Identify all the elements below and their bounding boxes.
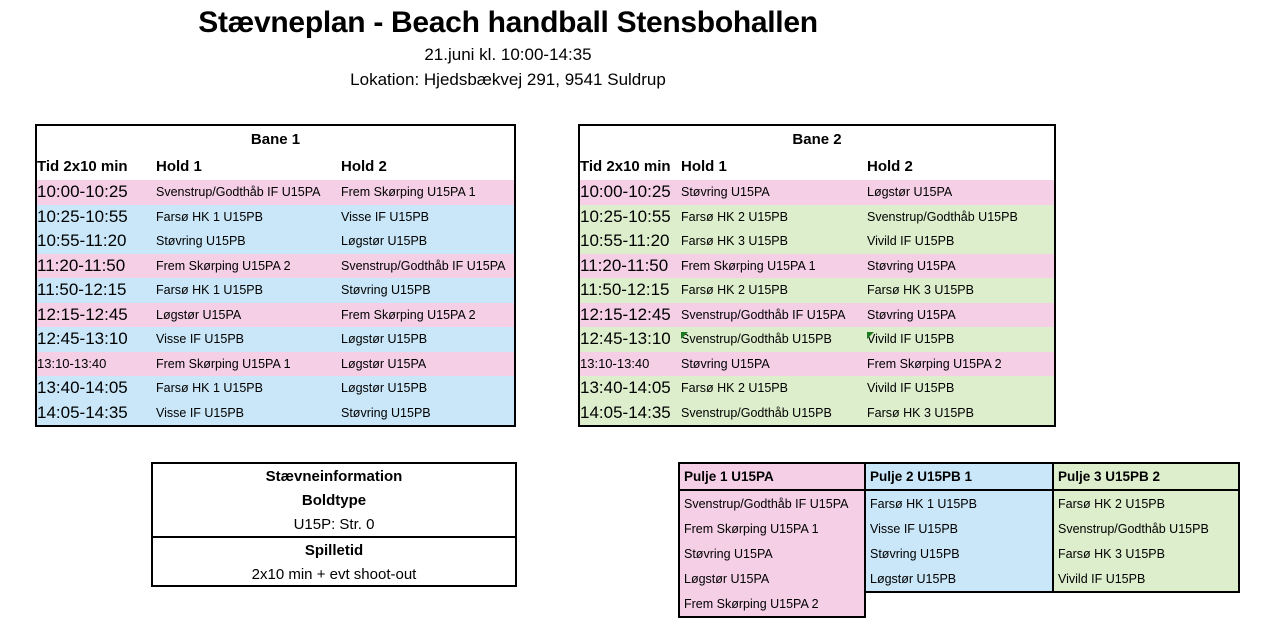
pool-team-label: Frem Skørping U15PA 2 (680, 591, 864, 616)
pool-team-label: Løgstør U15PA (680, 566, 864, 591)
table-row: 10:00-10:25Støvring U15PALøgstør U15PA (580, 180, 1054, 205)
pool-header-row: Pulje 1 U15PA (680, 464, 864, 490)
table-row: 11:20-11:50Frem Skørping U15PA 2Svenstru… (37, 254, 514, 279)
match-home-team: Farsø HK 2 U15PB (681, 205, 867, 230)
match-home-team-label: Farsø HK 1 U15PB (156, 381, 263, 395)
match-home-team-label: Svenstrup/Godthåb IF U15PA (681, 308, 845, 322)
match-away-team: Frem Skørping U15PA 2 (867, 352, 1054, 377)
schedule-table-bane-1: Bane 1Tid 2x10 minHold 1Hold 210:00-10:2… (35, 124, 516, 427)
pool-team-label: Svenstrup/Godthåb IF U15PA (680, 490, 864, 516)
match-time: 11:50-12:15 (37, 278, 156, 303)
match-home-team: Støvring U15PB (156, 229, 341, 254)
match-away-team: Løgstør U15PB (341, 327, 514, 352)
pool-team-row: Svenstrup/Godthåb U15PB (1054, 516, 1238, 541)
match-time: 13:10-13:40 (580, 352, 681, 377)
pool-header-label: Pulje 3 U15PB 2 (1054, 464, 1238, 490)
pool-team-row: Visse IF U15PB (866, 516, 1052, 541)
pool-team-row: Frem Skørping U15PA 2 (680, 591, 864, 616)
pool-header-row: Pulje 3 U15PB 2 (1054, 464, 1238, 490)
table-row: 12:45-13:10Svenstrup/Godthåb U15PBVivild… (580, 327, 1054, 352)
match-time: 11:20-11:50 (37, 254, 156, 279)
match-time: 11:20-11:50 (580, 254, 681, 279)
match-home-team-label: Farsø HK 2 U15PB (681, 210, 788, 224)
table-row: 13:40-14:05Farsø HK 1 U15PBLøgstør U15PB (37, 376, 514, 401)
match-away-team: Svenstrup/Godthåb IF U15PA (341, 254, 514, 279)
table-row: 14:05-14:35Visse IF U15PBStøvring U15PB (37, 401, 514, 426)
table-row: 11:20-11:50Frem Skørping U15PA 1Støvring… (580, 254, 1054, 279)
table-row: 10:00-10:25Svenstrup/Godthåb IF U15PAFre… (37, 180, 514, 205)
pool-table-pulje-3: Pulje 3 U15PB 2Farsø HK 2 U15PBSvenstrup… (1052, 462, 1240, 593)
bane-title: Bane 2 (580, 126, 1054, 153)
match-home-team: Støvring U15PA (681, 180, 867, 205)
table-header-row: Tid 2x10 minHold 1Hold 2 (37, 153, 514, 180)
table-row: 10:55-11:20Støvring U15PBLøgstør U15PB (37, 229, 514, 254)
table-row: 13:40-14:05Farsø HK 2 U15PBVivild IF U15… (580, 376, 1054, 401)
match-away-team: Vivild IF U15PB (867, 376, 1054, 401)
pool-team-row: Vivild IF U15PB (1054, 566, 1238, 591)
pool-team-label: Farsø HK 2 U15PB (1054, 490, 1238, 516)
match-home-team-label: Svenstrup/Godthåb IF U15PA (156, 185, 320, 199)
match-home-team: Visse IF U15PB (156, 327, 341, 352)
table-row: 10:55-11:20Farsø HK 3 U15PBVivild IF U15… (580, 229, 1054, 254)
table-row: 11:50-12:15Farsø HK 2 U15PBFarsø HK 3 U1… (580, 278, 1054, 303)
pool-team-label: Løgstør U15PB (866, 566, 1052, 591)
match-time: 10:55-11:20 (580, 229, 681, 254)
match-time: 10:00-10:25 (37, 180, 156, 205)
match-away-team-label: Løgstør U15PB (341, 381, 427, 395)
match-away-team: Løgstør U15PB (341, 376, 514, 401)
table-row: 13:10-13:40Støvring U15PAFrem Skørping U… (580, 352, 1054, 377)
match-home-team-label: Farsø HK 2 U15PB (681, 381, 788, 395)
pool-team-label: Støvring U15PB (866, 541, 1052, 566)
match-home-team: Svenstrup/Godthåb IF U15PA (681, 303, 867, 328)
match-home-team-label: Farsø HK 2 U15PB (681, 283, 788, 297)
match-away-team: Løgstør U15PA (867, 180, 1054, 205)
match-away-team-label: Vivild IF U15PB (867, 234, 954, 248)
match-away-team-label: Løgstør U15PB (341, 332, 427, 346)
match-home-team: Farsø HK 3 U15PB (681, 229, 867, 254)
match-away-team: Støvring U15PA (867, 254, 1054, 279)
info-ball-label: Boldtype (153, 488, 515, 512)
pool-team-label: Svenstrup/Godthåb U15PB (1054, 516, 1238, 541)
match-away-team-label: Visse IF U15PB (341, 210, 429, 224)
table-title-row: Bane 2 (580, 126, 1054, 153)
match-away-team-label: Støvring U15PB (341, 283, 431, 297)
match-away-team-label: Støvring U15PB (341, 406, 431, 420)
match-home-team: Farsø HK 2 U15PB (681, 278, 867, 303)
match-home-team: Frem Skørping U15PA 1 (156, 352, 341, 377)
match-away-team: Vivild IF U15PB (867, 229, 1054, 254)
match-time: 14:05-14:35 (37, 401, 156, 426)
match-away-team: Farsø HK 3 U15PB (867, 401, 1054, 426)
info-time-value: 2x10 min + evt shoot-out (153, 562, 515, 586)
schedule-table-bane-2: Bane 2Tid 2x10 minHold 1Hold 210:00-10:2… (578, 124, 1056, 427)
event-location: Lokation: Hjedsbækvej 291, 9541 Suldrup (0, 67, 1016, 92)
match-home-team-label: Frem Skørping U15PA 2 (156, 259, 291, 273)
match-away-team-label: Frem Skørping U15PA 1 (341, 185, 476, 199)
match-home-team-label: Farsø HK 1 U15PB (156, 283, 263, 297)
pool-table-pulje-1: Pulje 1 U15PASvenstrup/Godthåb IF U15PAF… (678, 462, 866, 618)
match-away-team: Løgstør U15PA (341, 352, 514, 377)
match-home-team-label: Støvring U15PA (681, 185, 770, 199)
match-time: 13:10-13:40 (37, 352, 156, 377)
pool-team-row: Farsø HK 3 U15PB (1054, 541, 1238, 566)
column-header-3: Hold 2 (867, 153, 1054, 180)
match-away-team: Svenstrup/Godthåb U15PB (867, 205, 1054, 230)
column-header-1: Tid 2x10 min (580, 153, 681, 180)
match-away-team: Løgstør U15PB (341, 229, 514, 254)
match-home-team: Farsø HK 1 U15PB (156, 278, 341, 303)
match-time: 10:25-10:55 (580, 205, 681, 230)
info-time-label: Spilletid (153, 537, 515, 562)
column-header-3: Hold 2 (341, 153, 514, 180)
match-home-team-label: Støvring U15PA (681, 357, 770, 371)
pool-team-row: Frem Skørping U15PA 1 (680, 516, 864, 541)
match-home-team-label: Støvring U15PB (156, 234, 246, 248)
match-home-team-label: Visse IF U15PB (156, 332, 244, 346)
match-home-team: Svenstrup/Godthåb IF U15PA (156, 180, 341, 205)
match-home-team: Farsø HK 2 U15PB (681, 376, 867, 401)
match-home-team: Frem Skørping U15PA 2 (156, 254, 341, 279)
pool-team-row: Støvring U15PB (866, 541, 1052, 566)
table-title-row: Bane 1 (37, 126, 514, 153)
table-row: 14:05-14:35Svenstrup/Godthåb U15PBFarsø … (580, 401, 1054, 426)
match-home-team-label: Visse IF U15PB (156, 406, 244, 420)
match-away-team: Vivild IF U15PB (867, 327, 1054, 352)
pool-team-row: Løgstør U15PA (680, 566, 864, 591)
match-time: 10:25-10:55 (37, 205, 156, 230)
match-home-team-label: Farsø HK 1 U15PB (156, 210, 263, 224)
bane-title: Bane 1 (37, 126, 514, 153)
pool-team-label: Farsø HK 1 U15PB (866, 490, 1052, 516)
pool-team-label: Vivild IF U15PB (1054, 566, 1238, 591)
match-away-team-label: Frem Skørping U15PA 2 (341, 308, 476, 322)
column-header-2: Hold 1 (681, 153, 867, 180)
pool-team-label: Frem Skørping U15PA 1 (680, 516, 864, 541)
pool-header-label: Pulje 2 U15PB 1 (866, 464, 1052, 490)
match-home-team: Støvring U15PA (681, 352, 867, 377)
match-away-team-label: Støvring U15PA (867, 259, 956, 273)
table-header-row: Tid 2x10 minHold 1Hold 2 (580, 153, 1054, 180)
table-row: 13:10-13:40Frem Skørping U15PA 1Løgstør … (37, 352, 514, 377)
match-time: 11:50-12:15 (580, 278, 681, 303)
table-row: 10:25-10:55Farsø HK 1 U15PBVisse IF U15P… (37, 205, 514, 230)
match-time: 12:15-12:45 (37, 303, 156, 328)
match-away-team-label: Svenstrup/Godthåb IF U15PA (341, 259, 505, 273)
match-home-team-label: Frem Skørping U15PA 1 (681, 259, 816, 273)
column-header-1: Tid 2x10 min (37, 153, 156, 180)
match-time: 12:45-13:10 (37, 327, 156, 352)
page-header: Stævneplan - Beach handball Stensbohalle… (0, 0, 1016, 92)
pool-team-label: Farsø HK 3 U15PB (1054, 541, 1238, 566)
match-time: 10:00-10:25 (580, 180, 681, 205)
table-row: 12:15-12:45Løgstør U15PAFrem Skørping U1… (37, 303, 514, 328)
match-away-team-label: Løgstør U15PB (341, 234, 427, 248)
match-time: 12:15-12:45 (580, 303, 681, 328)
pool-header-label: Pulje 1 U15PA (680, 464, 864, 490)
match-home-team: Farsø HK 1 U15PB (156, 205, 341, 230)
match-away-team: Visse IF U15PB (341, 205, 514, 230)
match-away-team-label: Vivild IF U15PB (867, 381, 954, 395)
match-away-team-label: Løgstør U15PA (867, 185, 952, 199)
match-home-team: Løgstør U15PA (156, 303, 341, 328)
info-title: Stævneinformation (153, 464, 515, 488)
match-time: 13:40-14:05 (37, 376, 156, 401)
match-time: 14:05-14:35 (580, 401, 681, 426)
pool-team-row: Farsø HK 2 U15PB (1054, 490, 1238, 516)
table-row: 11:50-12:15Farsø HK 1 U15PBStøvring U15P… (37, 278, 514, 303)
match-away-team-label: Farsø HK 3 U15PB (867, 406, 974, 420)
pool-header-row: Pulje 2 U15PB 1 (866, 464, 1052, 490)
match-home-team: Farsø HK 1 U15PB (156, 376, 341, 401)
match-away-team: Farsø HK 3 U15PB (867, 278, 1054, 303)
column-header-2: Hold 1 (156, 153, 341, 180)
event-datetime: 21.juni kl. 10:00-14:35 (0, 42, 1016, 67)
page-title: Stævneplan - Beach handball Stensbohalle… (0, 4, 1016, 42)
match-away-team-label: Vivild IF U15PB (867, 332, 954, 346)
match-away-team-label: Farsø HK 3 U15PB (867, 283, 974, 297)
match-home-team-label: Farsø HK 3 U15PB (681, 234, 788, 248)
match-away-team: Frem Skørping U15PA 1 (341, 180, 514, 205)
match-time: 12:45-13:10 (580, 327, 681, 352)
table-row: 10:25-10:55Farsø HK 2 U15PBSvenstrup/God… (580, 205, 1054, 230)
pool-table-pulje-2: Pulje 2 U15PB 1Farsø HK 1 U15PBVisse IF … (864, 462, 1054, 593)
match-home-team-label: Svenstrup/Godthåb U15PB (681, 332, 832, 346)
pool-team-row: Farsø HK 1 U15PB (866, 490, 1052, 516)
match-time: 13:40-14:05 (580, 376, 681, 401)
match-home-team-label: Løgstør U15PA (156, 308, 241, 322)
info-ball-value: U15P: Str. 0 (153, 512, 515, 537)
match-away-team: Støvring U15PB (341, 278, 514, 303)
table-row: 12:45-13:10Visse IF U15PBLøgstør U15PB (37, 327, 514, 352)
pool-team-label: Visse IF U15PB (866, 516, 1052, 541)
comment-marker-icon (681, 332, 688, 339)
pool-team-row: Løgstør U15PB (866, 566, 1052, 591)
table-row: 12:15-12:45Svenstrup/Godthåb IF U15PAStø… (580, 303, 1054, 328)
match-home-team-label: Svenstrup/Godthåb U15PB (681, 406, 832, 420)
match-time: 10:55-11:20 (37, 229, 156, 254)
match-away-team-label: Frem Skørping U15PA 2 (867, 357, 1002, 371)
pool-team-label: Støvring U15PA (680, 541, 864, 566)
pool-team-row: Støvring U15PA (680, 541, 864, 566)
match-away-team-label: Svenstrup/Godthåb U15PB (867, 210, 1018, 224)
match-home-team: Svenstrup/Godthåb U15PB (681, 327, 867, 352)
tournament-info-box: Stævneinformation Boldtype U15P: Str. 0 … (151, 462, 517, 587)
match-away-team: Støvring U15PA (867, 303, 1054, 328)
match-home-team-label: Frem Skørping U15PA 1 (156, 357, 291, 371)
match-away-team-label: Løgstør U15PA (341, 357, 426, 371)
match-home-team: Frem Skørping U15PA 1 (681, 254, 867, 279)
match-away-team-label: Støvring U15PA (867, 308, 956, 322)
match-home-team: Visse IF U15PB (156, 401, 341, 426)
match-away-team: Støvring U15PB (341, 401, 514, 426)
comment-marker-icon (867, 332, 874, 339)
pool-team-row: Svenstrup/Godthåb IF U15PA (680, 490, 864, 516)
match-away-team: Frem Skørping U15PA 2 (341, 303, 514, 328)
match-home-team: Svenstrup/Godthåb U15PB (681, 401, 867, 426)
